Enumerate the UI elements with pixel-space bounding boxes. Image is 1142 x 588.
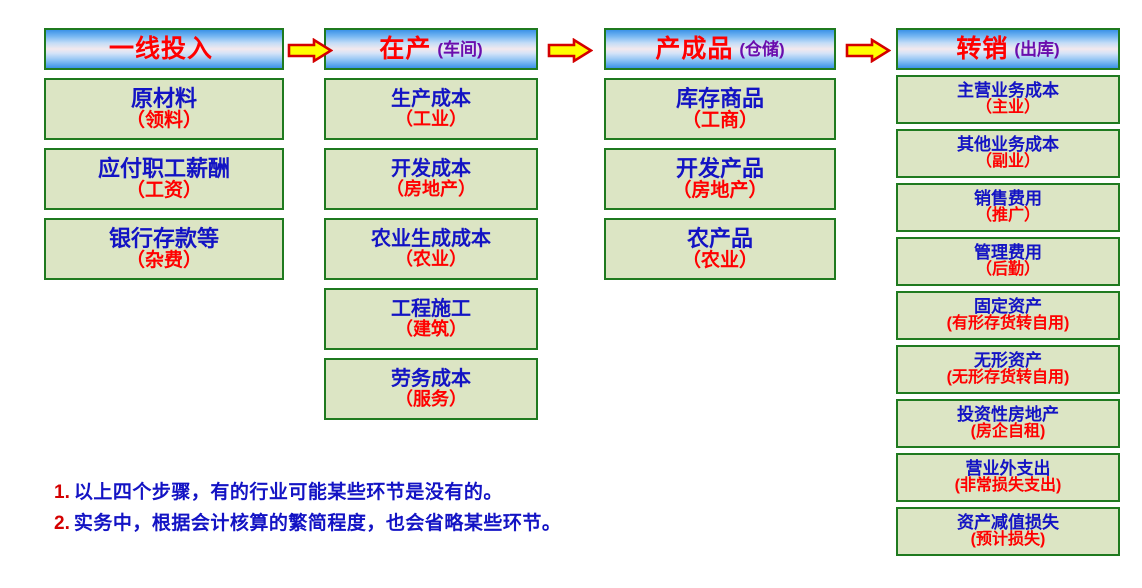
item-box[interactable]: 资产减值损失 (预计损失) xyxy=(896,507,1120,556)
item-main-label: 营业外支出 xyxy=(966,460,1051,478)
item-sub-label: (预计损失) xyxy=(971,532,1046,549)
cost-flow-diagram: 一线投入 原材料 （领料） 应付职工薪酬 （工资） 银行存款等 （杂费） 在产 … xyxy=(0,0,1142,588)
item-sub-label: （杂费） xyxy=(126,251,202,271)
column-header-sub-label: (仓储) xyxy=(739,41,784,58)
item-box[interactable]: 营业外支出 (非常损失支出) xyxy=(896,453,1120,502)
column-finished-goods: 产成品 (仓储) 库存商品 （工商） 开发产品 （房地产） 农产品 （农业） xyxy=(604,28,836,280)
item-main-label: 库存商品 xyxy=(676,87,764,110)
item-main-label: 主营业务成本 xyxy=(957,82,1059,100)
footnote-item: 2.实务中，根据会计核算的繁简程度，也会省略某些环节。 xyxy=(54,513,654,535)
item-box[interactable]: 管理费用 （后勤） xyxy=(896,237,1120,286)
column-header-main-label: 在产 xyxy=(379,37,431,62)
footnote-number: 1. xyxy=(54,482,70,503)
item-sub-label: (无形存货转自用) xyxy=(947,370,1070,387)
item-main-label: 投资性房地产 xyxy=(957,406,1059,424)
item-main-label: 应付职工薪酬 xyxy=(98,157,230,180)
item-sub-label: （工业） xyxy=(395,110,467,129)
item-main-label: 无形资产 xyxy=(974,352,1042,370)
item-sub-label: （工资） xyxy=(126,181,202,201)
column-header-main-label: 产成品 xyxy=(655,37,733,62)
item-sub-label: (非常损失支出) xyxy=(955,478,1062,495)
column-work-in-progress: 在产 (车间) 生产成本 （工业） 开发成本 （房地产） 农业生成成本 （农业）… xyxy=(324,28,538,420)
item-box[interactable]: 工程施工 （建筑） xyxy=(324,288,538,350)
item-sub-label: （农业） xyxy=(682,251,758,271)
item-main-label: 生产成本 xyxy=(391,89,471,110)
item-box[interactable]: 劳务成本 （服务） xyxy=(324,358,538,420)
footnote-item: 1.以上四个步骤，有的行业可能某些环节是没有的。 xyxy=(54,482,654,504)
item-main-label: 销售费用 xyxy=(974,190,1042,208)
item-box[interactable]: 农产品 （农业） xyxy=(604,218,836,280)
column-write-off: 转销 (出库) 主营业务成本 （主业） 其他业务成本 （副业） 销售费用 （推广… xyxy=(896,28,1120,556)
column-header-finished-goods: 产成品 (仓储) xyxy=(604,28,836,70)
item-box[interactable]: 开发产品 （房地产） xyxy=(604,148,836,210)
item-main-label: 固定资产 xyxy=(974,298,1042,316)
item-sub-label: （主业） xyxy=(976,100,1040,117)
item-main-label: 原材料 xyxy=(131,87,197,110)
item-box[interactable]: 固定资产 (有形存货转自用) xyxy=(896,291,1120,340)
item-sub-label: （工商） xyxy=(682,111,758,131)
item-box[interactable]: 生产成本 （工业） xyxy=(324,78,538,140)
item-box[interactable]: 原材料 （领料） xyxy=(44,78,284,140)
footnote-text: 实务中，根据会计核算的繁简程度，也会省略某些环节。 xyxy=(74,513,562,534)
item-main-label: 农产品 xyxy=(687,227,753,250)
item-main-label: 劳务成本 xyxy=(391,369,471,390)
item-box[interactable]: 银行存款等 （杂费） xyxy=(44,218,284,280)
item-sub-label: （领料） xyxy=(126,111,202,131)
item-box[interactable]: 主营业务成本 （主业） xyxy=(896,75,1120,124)
item-box[interactable]: 应付职工薪酬 （工资） xyxy=(44,148,284,210)
item-main-label: 管理费用 xyxy=(974,244,1042,262)
item-sub-label: （推广） xyxy=(976,208,1040,225)
item-sub-label: （副业） xyxy=(976,154,1040,171)
right-arrow-icon xyxy=(845,38,891,63)
footnote-text: 以上四个步骤，有的行业可能某些环节是没有的。 xyxy=(74,482,503,503)
item-main-label: 银行存款等 xyxy=(109,227,219,250)
column-header-sub-label: (车间) xyxy=(437,41,482,58)
item-main-label: 资产减值损失 xyxy=(957,514,1059,532)
item-box[interactable]: 农业生成成本 （农业） xyxy=(324,218,538,280)
column-header-first-line-input: 一线投入 xyxy=(44,28,284,70)
item-box[interactable]: 其他业务成本 （副业） xyxy=(896,129,1120,178)
item-main-label: 开发成本 xyxy=(391,159,471,180)
right-arrow-icon xyxy=(547,38,593,63)
item-sub-label: （农业） xyxy=(395,250,467,269)
right-arrow-icon xyxy=(287,38,333,63)
item-main-label: 其他业务成本 xyxy=(957,136,1059,154)
item-main-label: 农业生成成本 xyxy=(371,229,491,250)
footnote-number: 2. xyxy=(54,513,70,534)
item-box[interactable]: 销售费用 （推广） xyxy=(896,183,1120,232)
column-first-line-input: 一线投入 原材料 （领料） 应付职工薪酬 （工资） 银行存款等 （杂费） xyxy=(44,28,284,280)
column-header-sub-label: (出库) xyxy=(1014,41,1059,58)
item-box[interactable]: 库存商品 （工商） xyxy=(604,78,836,140)
item-sub-label: (房企自租) xyxy=(971,424,1046,441)
item-sub-label: （服务） xyxy=(395,390,467,409)
item-box[interactable]: 无形资产 (无形存货转自用) xyxy=(896,345,1120,394)
item-box[interactable]: 投资性房地产 (房企自租) xyxy=(896,399,1120,448)
item-sub-label: （建筑） xyxy=(395,320,467,339)
column-header-main-label: 转销 xyxy=(956,37,1008,62)
item-sub-label: (有形存货转自用) xyxy=(947,316,1070,333)
column-header-main-label: 一线投入 xyxy=(109,37,213,62)
footnotes: 1.以上四个步骤，有的行业可能某些环节是没有的。 2.实务中，根据会计核算的繁简… xyxy=(54,482,654,544)
column-header-write-off: 转销 (出库) xyxy=(896,28,1120,70)
item-sub-label: （后勤） xyxy=(976,262,1040,279)
item-main-label: 开发产品 xyxy=(676,157,764,180)
item-sub-label: （房地产） xyxy=(386,180,476,199)
item-main-label: 工程施工 xyxy=(391,299,471,320)
item-sub-label: （房地产） xyxy=(672,181,767,201)
column-header-work-in-progress: 在产 (车间) xyxy=(324,28,538,70)
item-box[interactable]: 开发成本 （房地产） xyxy=(324,148,538,210)
